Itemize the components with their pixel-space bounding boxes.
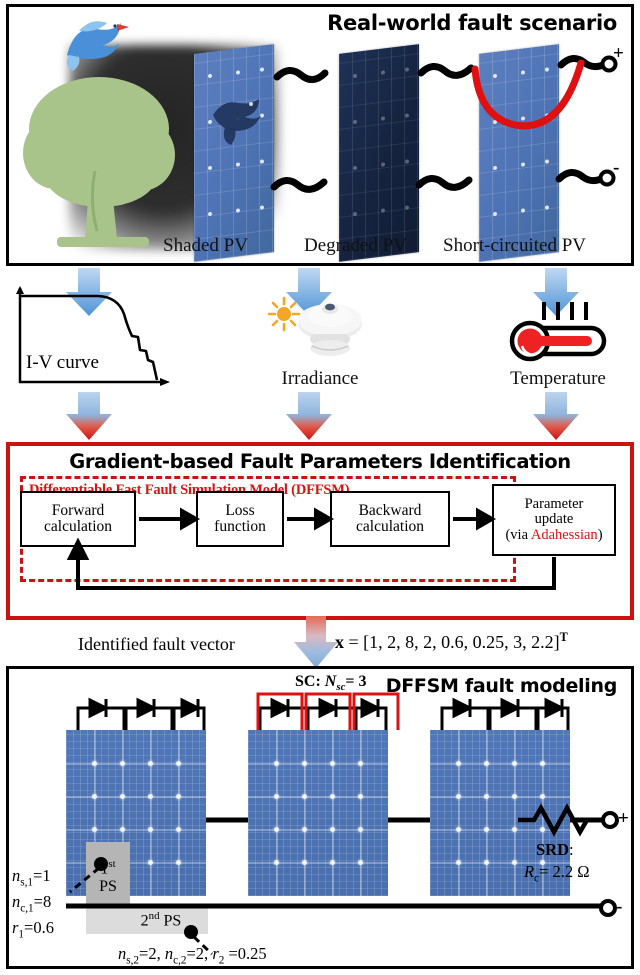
wiring-diagram (9, 7, 637, 263)
equation-ps2: ns,2=2, nc,2=2, r2 =0.25 (118, 944, 267, 966)
identified-fault-vector-label: Identified fault vector (78, 634, 235, 655)
box-loss-line1: Loss (225, 502, 254, 519)
pyranometer-icon (268, 296, 372, 368)
terminal-negative-bottom: - (616, 896, 622, 918)
adahessian-accent: Adahessian (531, 527, 598, 543)
diode-icon-4 (272, 699, 288, 717)
diode-icon-8 (502, 699, 518, 717)
diode-icon-7 (454, 699, 470, 717)
equation-ns1: ns,1=1 (12, 866, 51, 888)
box-backward-line1: Backward (359, 502, 422, 519)
fault-vector-values: 1, 2, 8, 2, 0.6, 0.25, 3, 2.2 (369, 632, 554, 652)
diode-icon-3 (182, 699, 198, 717)
figure-root: Real-world fault scenario (0, 0, 640, 975)
real-world-fault-scenario-panel: Real-world fault scenario (6, 4, 634, 266)
thermometer-icon (500, 300, 616, 366)
equation-r1: r1=0.6 (12, 918, 54, 940)
box-backward-calculation[interactable]: Backward calculation (330, 491, 450, 547)
diode-icon-6 (362, 699, 378, 717)
sensor-label-temperature: Temperature (498, 368, 618, 390)
srd-value: Rc= 2.2 Ω (524, 862, 590, 884)
box-forward-line1: Forward (52, 502, 105, 519)
arrows-into-model (0, 392, 640, 444)
diode-icon-1 (90, 699, 106, 717)
fault-vector-symbol: x (335, 632, 344, 652)
srd-label: SRD: (536, 840, 574, 860)
pv-label-shaded: Shaded PV (163, 235, 248, 257)
pv-label-short-circuited: Short-circuited PV (443, 235, 586, 257)
fault-vector-expression: x = [1, 2, 8, 2, 0.6, 0.25, 3, 2.2]T (335, 630, 568, 653)
box-forward-calculation[interactable]: Forward calculation (20, 491, 136, 547)
equation-nc1: nc,1=8 (12, 892, 51, 914)
terminal-positive-top: + (613, 43, 624, 65)
terminal-positive-bottom: + (618, 808, 629, 830)
box-update-line3: (via Adahessian) (505, 527, 602, 543)
diode-icon-2 (138, 699, 154, 717)
diode-icon-5 (320, 699, 336, 717)
sensor-label-irradiance: Irradiance (268, 368, 372, 390)
sensor-label-iv-curve: I-V curve (26, 352, 99, 374)
box-parameter-update[interactable]: Parameter update (via Adahessian) (492, 484, 616, 556)
model-panel-title: Gradient-based Fault Parameters Identifi… (10, 450, 630, 473)
box-loss-function[interactable]: Loss function (196, 491, 284, 547)
pv-label-degraded: Degraded PV (304, 235, 407, 257)
box-backward-line2: calculation (356, 518, 424, 535)
box-update-line1: Parameter (525, 496, 584, 512)
terminal-negative-top: - (613, 157, 619, 179)
diode-icon-9 (546, 699, 562, 717)
box-loss-line2: function (214, 518, 266, 535)
box-update-line2: update (535, 511, 574, 527)
box-forward-line2: calculation (44, 518, 112, 535)
